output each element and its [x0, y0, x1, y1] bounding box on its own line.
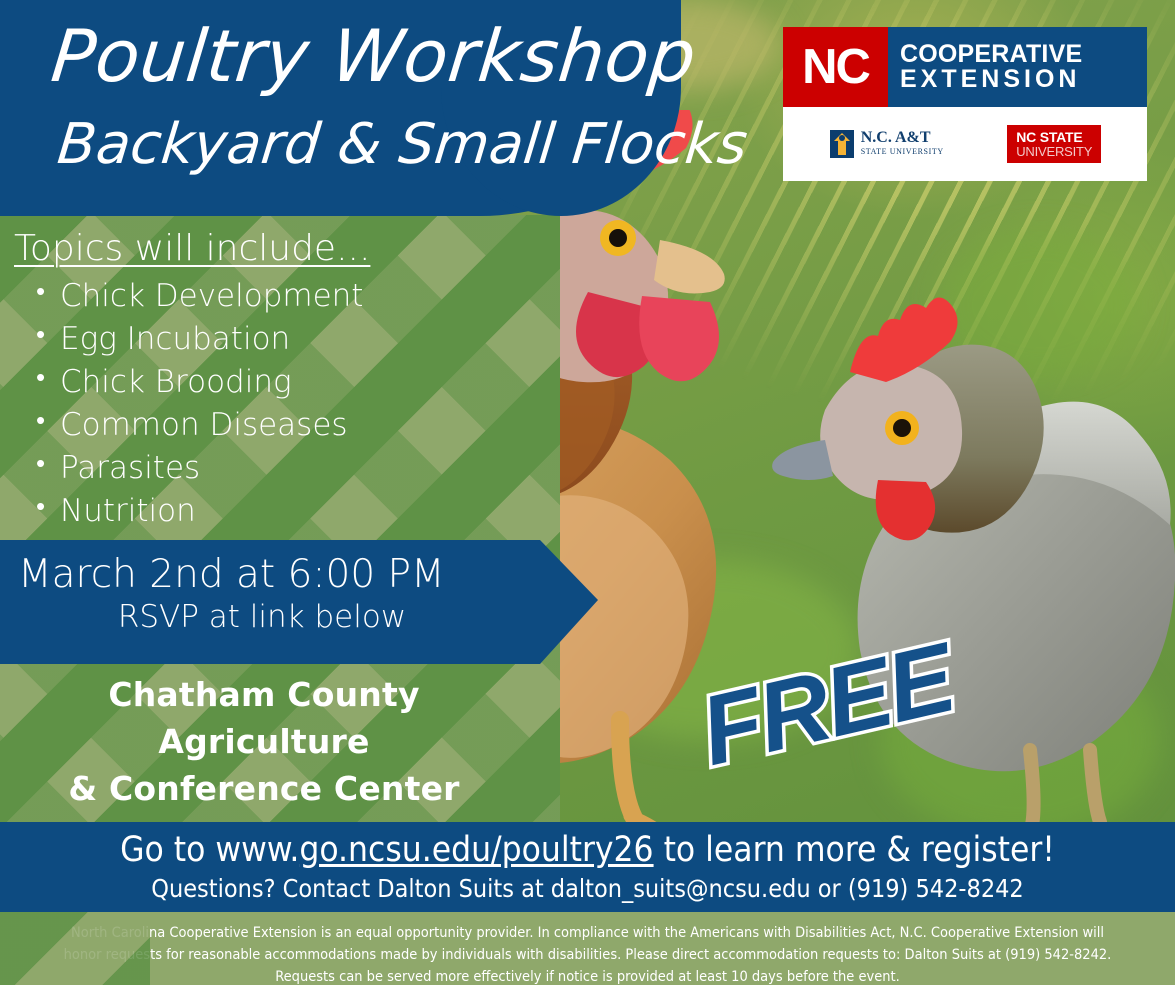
nc-logo-mark: NC [783, 27, 888, 107]
topic-item: Common Diseases [14, 404, 534, 447]
venue-line-1: Chatham County Agriculture [0, 672, 528, 766]
cta-prefix: Go to www. [120, 830, 299, 870]
topic-item: Parasites [14, 447, 534, 490]
venue-line-2: & Conference Center [0, 766, 528, 813]
aggie-icon [829, 129, 855, 159]
footer-cta-bar: Go to www.go.ncsu.edu/poultry26 to learn… [0, 822, 1175, 912]
ncstate-name: NC STATE [1016, 130, 1092, 145]
topic-item: Chick Development [14, 275, 534, 318]
topic-item: Egg Incubation [14, 318, 534, 361]
event-rsvp-note: RSVP at link below [0, 597, 600, 635]
nc-at-logo: N.C. A&T STATE UNIVERSITY [829, 129, 944, 159]
ncstate-subtitle: UNIVERSITY [1016, 145, 1092, 159]
nc-state-logo: NC STATE UNIVERSITY [1007, 125, 1101, 163]
disclaimer-line-1: North Carolina Cooperative Extension is … [8, 922, 1167, 944]
topic-item: Nutrition [14, 490, 534, 533]
poster-title-main: Poultry Workshop [48, 14, 701, 98]
date-banner: March 2nd at 6:00 PM RSVP at link below [0, 540, 600, 664]
nc-cooperative-extension-logo: NC COOPERATIVE EXTENSION N.C. A&T STATE … [783, 27, 1147, 181]
aggie-subtitle: STATE UNIVERSITY [861, 146, 944, 157]
disclaimer-line-3: Requests can be served more effectively … [8, 966, 1167, 985]
aggie-name: N.C. A&T [861, 130, 944, 146]
registration-url[interactable]: go.ncsu.edu/poultry26 [299, 830, 653, 870]
disclaimer-block: North Carolina Cooperative Extension is … [0, 912, 1175, 985]
poultry-workshop-poster: Poultry Workshop Backyard & Small Flocks… [0, 0, 1175, 985]
topics-heading: Topics will include... [14, 228, 534, 269]
cta-suffix: to learn more & register! [654, 830, 1055, 870]
logo-extension-text: EXTENSION [900, 67, 1147, 93]
disclaimer-chevron-pattern [0, 912, 150, 985]
topics-list: Chick DevelopmentEgg IncubationChick Bro… [14, 275, 534, 533]
registration-cta: Go to www.go.ncsu.edu/poultry26 to learn… [0, 822, 1175, 870]
poster-title-sub: Backyard & Small Flocks [55, 112, 751, 177]
disclaimer-line-2: honor requests for reasonable accommodat… [8, 944, 1167, 966]
logo-cooperative-text: COOPERATIVE [900, 42, 1147, 68]
topic-item: Chick Brooding [14, 361, 534, 404]
contact-line: Questions? Contact Dalton Suits at dalto… [0, 870, 1175, 903]
topics-section: Topics will include... Chick Development… [14, 228, 534, 533]
event-datetime: March 2nd at 6:00 PM [0, 540, 600, 597]
